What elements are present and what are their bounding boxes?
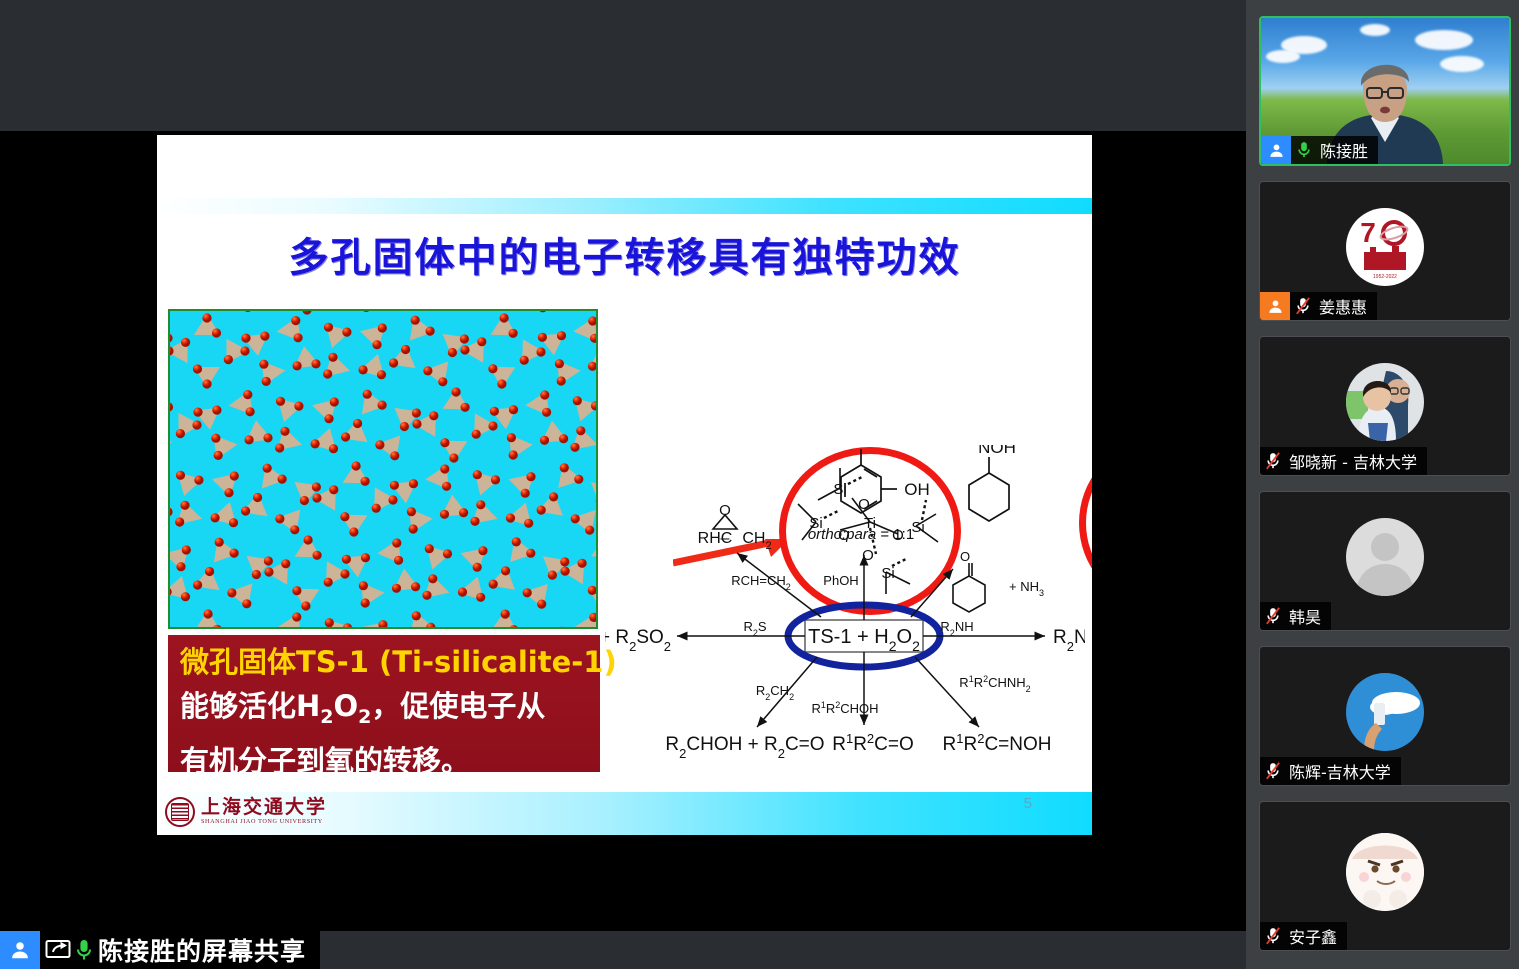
sjtu-name-cn: 上海交通大学: [201, 798, 327, 817]
microphone-muted-icon: [1260, 447, 1286, 475]
slide-header-band: [157, 198, 1092, 214]
screen-share-icon: [45, 939, 71, 961]
participant-name-bar: 姜惠惠: [1260, 292, 1377, 320]
sjtu-logo: 上海交通大学 SHANGHAI JIAO TONG UNIVERSITY: [165, 791, 425, 833]
participant-tile[interactable]: 71952-2022姜惠惠: [1259, 181, 1511, 321]
cloud-icon: [1415, 30, 1473, 50]
microphone-muted-icon: [1260, 922, 1286, 950]
reactant-phoh: PhOH: [823, 573, 858, 588]
epoxide-oxygen: O: [719, 502, 731, 519]
svg-text:7: 7: [1360, 217, 1376, 248]
product-alcohol-ketone: R2CHOH + R2C=O: [665, 734, 824, 761]
participant-tile[interactable]: 安子鑫: [1259, 801, 1511, 951]
reaction-scheme-svg: RHC – O CH2 OH: [605, 445, 1085, 805]
participant-tile[interactable]: 陈辉-吉林大学: [1259, 646, 1511, 786]
sjtu-seal-icon: [165, 797, 195, 827]
participant-name-bar: 韩昊: [1260, 602, 1331, 630]
reaction-scheme: RHC – O CH2 OH: [605, 445, 1085, 805]
avatar: [1346, 673, 1424, 751]
avatar-photo-icon: [1346, 673, 1424, 751]
screen-share-status-bar: 陈接胜的屏幕共享: [0, 931, 320, 969]
reactant-nh3: + NH3: [1009, 579, 1044, 598]
catechol-oh-top: OH: [848, 445, 874, 449]
epoxide-ch2: CH2: [742, 530, 771, 552]
anniversary-logo-icon: 71952-2022: [1346, 208, 1424, 286]
participant-name-bar: 陈辉-吉林大学: [1260, 757, 1401, 785]
reactant-alkene: RCH=CH2: [731, 573, 791, 592]
ti-peroxo-structure: H O Ti O Ti(η2-OOH): [1086, 452, 1092, 594]
participants-sidebar[interactable]: 陈接胜71952-2022姜惠惠邹晓新 - 吉林大学韩昊陈辉-吉林大学安子鑫: [1246, 0, 1519, 969]
epoxide-dash: –: [721, 530, 730, 547]
presentation-slide: 多孔固体中的电子转移具有独特功效: [157, 135, 1092, 835]
cartoon-avatar-icon: [1346, 833, 1424, 911]
microphone-on-icon: [1291, 136, 1317, 164]
default-avatar-icon: [1346, 518, 1424, 596]
avatar: [1346, 518, 1424, 596]
microphone-muted-icon: [1260, 757, 1286, 785]
cloud-icon: [1360, 24, 1390, 36]
microphone-muted-icon: [1260, 602, 1286, 630]
sjtu-name-en: SHANGHAI JIAO TONG UNIVERSITY: [201, 819, 327, 825]
reactant-r2s: R2S: [743, 619, 766, 638]
share-banner-text: 陈接胜的屏幕共享: [94, 932, 306, 968]
avatar-photo-icon: [1346, 363, 1424, 441]
participant-tile[interactable]: 陈接胜: [1259, 16, 1511, 166]
slide-page-number: 5: [1024, 795, 1032, 812]
participant-tile[interactable]: 邹晓新 - 吉林大学: [1259, 336, 1511, 476]
participant-name-bar: 安子鑫: [1260, 922, 1347, 950]
participant-name: 姜惠惠: [1316, 294, 1367, 318]
cloud-icon: [1266, 50, 1300, 63]
participant-name-bar: 邹晓新 - 吉林大学: [1260, 447, 1427, 475]
slide-footer-band: 上海交通大学 SHANGHAI JIAO TONG UNIVERSITY 5: [157, 792, 1092, 835]
avatar: [1346, 363, 1424, 441]
svg-text:1952-2022: 1952-2022: [1373, 274, 1397, 280]
callout-line-1: 微孔固体TS-1 (Ti-silicalite-1): [180, 640, 590, 684]
slide-title: 多孔固体中的电子转移具有独特功效: [157, 225, 1092, 283]
zeolite-framework-image: [168, 309, 598, 629]
ortho-para-note: ortho:para = 1:1: [808, 526, 914, 543]
callout-line-2: 能够活化H2O2，促使电子从: [180, 684, 590, 739]
reactant-r1r2chnh2: R1R2CHNH2: [959, 674, 1030, 694]
product-ketone: R1R2C=O: [832, 731, 914, 756]
zeolite-svg: [170, 311, 596, 627]
participant-name: 陈接胜: [1317, 138, 1368, 162]
product-oxime: R1R2C=NOH: [943, 731, 1052, 756]
participant-name: 韩昊: [1286, 604, 1321, 628]
reactant-r2nh: R2NH: [940, 619, 973, 638]
participant-tile[interactable]: 韩昊: [1259, 491, 1511, 631]
microphone-muted-icon: [1290, 292, 1316, 320]
person-badge-icon: [1261, 136, 1291, 164]
participant-name: 邹晓新 - 吉林大学: [1286, 449, 1417, 473]
person-badge-icon: [0, 931, 40, 969]
ketone-oxygen: O: [960, 549, 970, 564]
product-r2noh: R2NOH: [1053, 627, 1085, 654]
participant-name-bar: 陈接胜: [1261, 136, 1378, 164]
catechol-oh-side: OH: [904, 480, 930, 499]
slide-callout-box: 微孔固体TS-1 (Ti-silicalite-1) 能够活化H2O2，促使电子…: [168, 635, 600, 772]
avatar: [1346, 833, 1424, 911]
oxime-noh: NOH: [978, 445, 1016, 457]
reactant-r2ch2: R2CH2: [756, 683, 794, 702]
participant-name: 安子鑫: [1286, 924, 1337, 948]
person-badge-icon: [1260, 292, 1290, 320]
microphone-on-icon: [74, 938, 94, 962]
participant-name: 陈辉-吉林大学: [1286, 759, 1391, 783]
shared-screen-area[interactable]: 多孔固体中的电子转移具有独特功效: [0, 0, 1246, 969]
reactant-r1r2choh: R1R2CHOH: [811, 700, 878, 716]
avatar: 71952-2022: [1346, 208, 1424, 286]
callout-line-3: 有机分子到氧的转移。: [180, 739, 590, 783]
zoom-meeting-window: 多孔固体中的电子转移具有独特功效: [0, 0, 1519, 969]
